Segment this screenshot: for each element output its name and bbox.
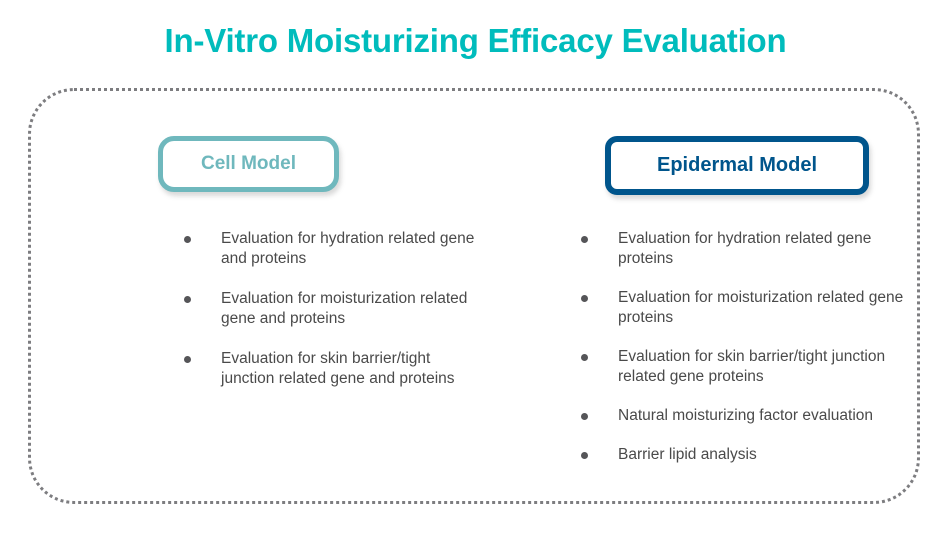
epidermal-model-bullet-list: Evaluation for hydration related gene pr… xyxy=(581,229,911,484)
bullet-dot-icon xyxy=(581,452,588,459)
epidermal-model-header-label: Epidermal Model xyxy=(657,154,817,177)
list-item: Evaluation for hydration related gene pr… xyxy=(581,229,911,269)
list-item-label: Evaluation for hydration related gene an… xyxy=(221,229,484,269)
bullet-dot-icon xyxy=(184,296,191,303)
list-item-label: Barrier lipid analysis xyxy=(618,445,911,465)
list-item-label: Evaluation for skin barrier/tight juncti… xyxy=(618,347,911,387)
bullet-dot-icon xyxy=(581,413,588,420)
cell-model-bullet-list: Evaluation for hydration related gene an… xyxy=(184,229,484,409)
model-columns: Cell Model Evaluation for hydration rela… xyxy=(31,91,917,501)
bullet-dot-icon xyxy=(184,356,191,363)
list-item: Evaluation for hydration related gene an… xyxy=(184,229,484,269)
page-title: In-Vitro Moisturizing Efficacy Evaluatio… xyxy=(0,22,951,60)
dashed-content-panel: Cell Model Evaluation for hydration rela… xyxy=(28,88,920,504)
bullet-dot-icon xyxy=(184,236,191,243)
cell-model-header-pill[interactable]: Cell Model xyxy=(158,136,339,192)
list-item: Evaluation for moisturization related ge… xyxy=(581,288,911,328)
bullet-dot-icon xyxy=(581,295,588,302)
list-item: Evaluation for moisturization related ge… xyxy=(184,289,484,329)
list-item-label: Evaluation for skin barrier/tight juncti… xyxy=(221,349,484,389)
list-item-label: Natural moisturizing factor evaluation xyxy=(618,406,911,426)
list-item-label: Evaluation for hydration related gene pr… xyxy=(618,229,911,269)
list-item: Evaluation for skin barrier/tight juncti… xyxy=(581,347,911,387)
list-item: Evaluation for skin barrier/tight juncti… xyxy=(184,349,484,389)
bullet-dot-icon xyxy=(581,236,588,243)
list-item: Natural moisturizing factor evaluation xyxy=(581,406,911,426)
list-item-label: Evaluation for moisturization related ge… xyxy=(618,288,911,328)
cell-model-header-label: Cell Model xyxy=(201,153,296,175)
epidermal-model-header-pill[interactable]: Epidermal Model xyxy=(605,136,869,195)
list-item: Barrier lipid analysis xyxy=(581,445,911,465)
list-item-label: Evaluation for moisturization related ge… xyxy=(221,289,484,329)
bullet-dot-icon xyxy=(581,354,588,361)
